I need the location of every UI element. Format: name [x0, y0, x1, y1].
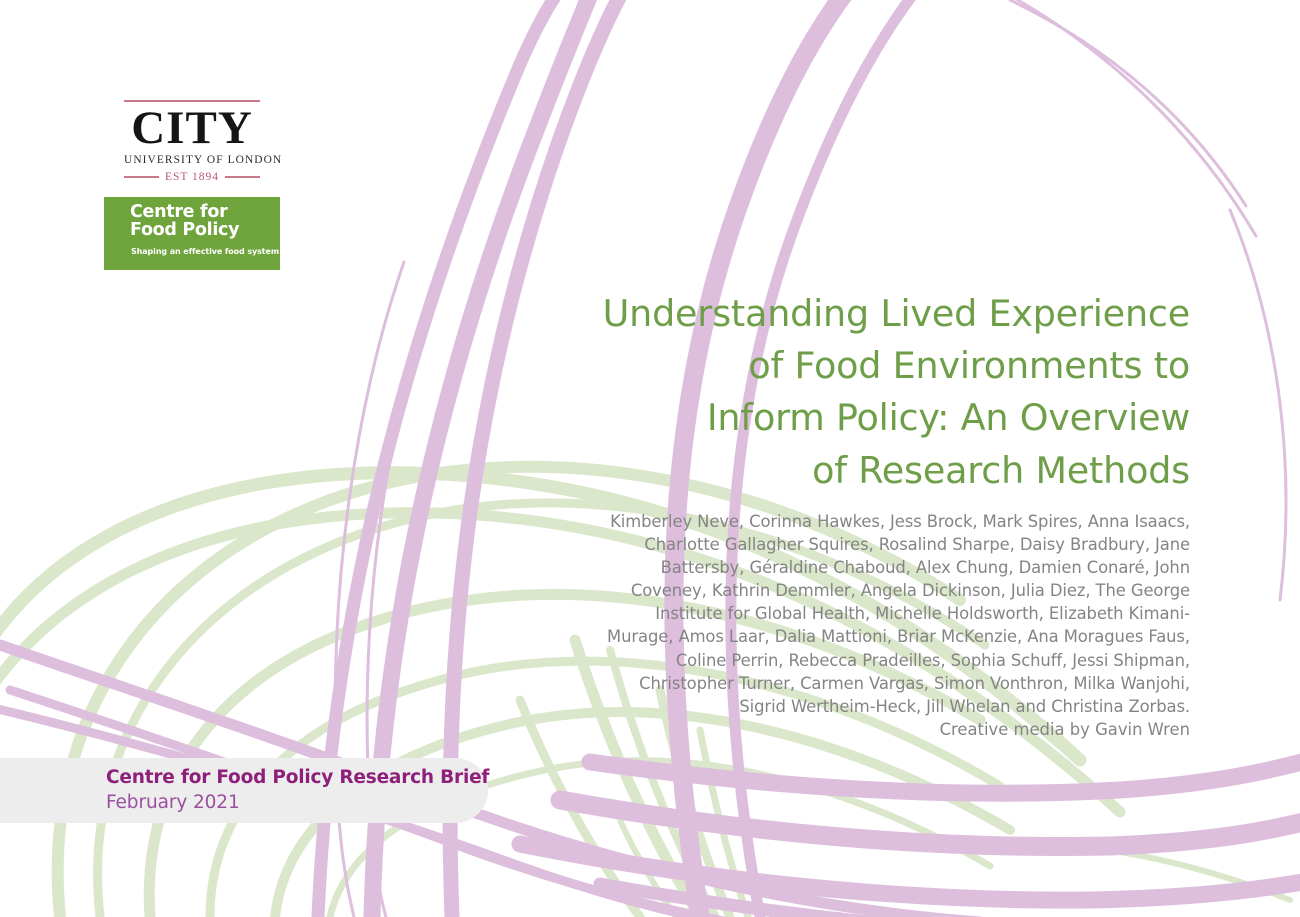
author-list: Kimberley Neve, Corinna Hawkes, Jess Bro…: [590, 510, 1190, 718]
footer-series-title: Centre for Food Policy Research Brief: [106, 767, 489, 788]
document-title-line-1: Understanding Lived Experience: [603, 292, 1190, 335]
footer-banner: Centre for Food Policy Research Brief Fe…: [0, 758, 488, 823]
city-logo-rule-left: [124, 176, 159, 178]
document-title-line-2: of Food Environments to: [748, 344, 1190, 387]
city-logo-subtitle: UNIVERSITY OF LONDON: [124, 154, 260, 166]
cfp-logo-line2: Food Policy: [130, 221, 239, 239]
city-logo-rule-right: [225, 176, 260, 178]
title-and-authors-block: Understanding Lived Experience of Food E…: [590, 288, 1190, 741]
document-title-line-4: of Research Methods: [812, 449, 1190, 492]
city-logo-established: EST 1894: [165, 171, 219, 183]
city-logo-wordmark: CITY: [124, 105, 260, 151]
creative-media-credit: Creative media by Gavin Wren: [590, 718, 1190, 741]
city-university-logo: CITY UNIVERSITY OF LONDON EST 1894: [124, 100, 260, 183]
document-cover-page: CITY UNIVERSITY OF LONDON EST 1894 Centr…: [0, 0, 1300, 917]
city-logo-established-row: EST 1894: [124, 171, 260, 183]
document-title: Understanding Lived Experience of Food E…: [590, 288, 1190, 497]
cfp-logo-line1: Centre for: [130, 203, 239, 221]
footer-date: February 2021: [106, 792, 240, 813]
centre-for-food-policy-logo: Centre for Food Policy Shaping an effect…: [104, 197, 280, 270]
cfp-logo-title: Centre for Food Policy: [130, 203, 239, 239]
document-title-line-3: Inform Policy: An Overview: [707, 396, 1190, 439]
cfp-logo-tagline: Shaping an effective food system: [131, 247, 279, 256]
